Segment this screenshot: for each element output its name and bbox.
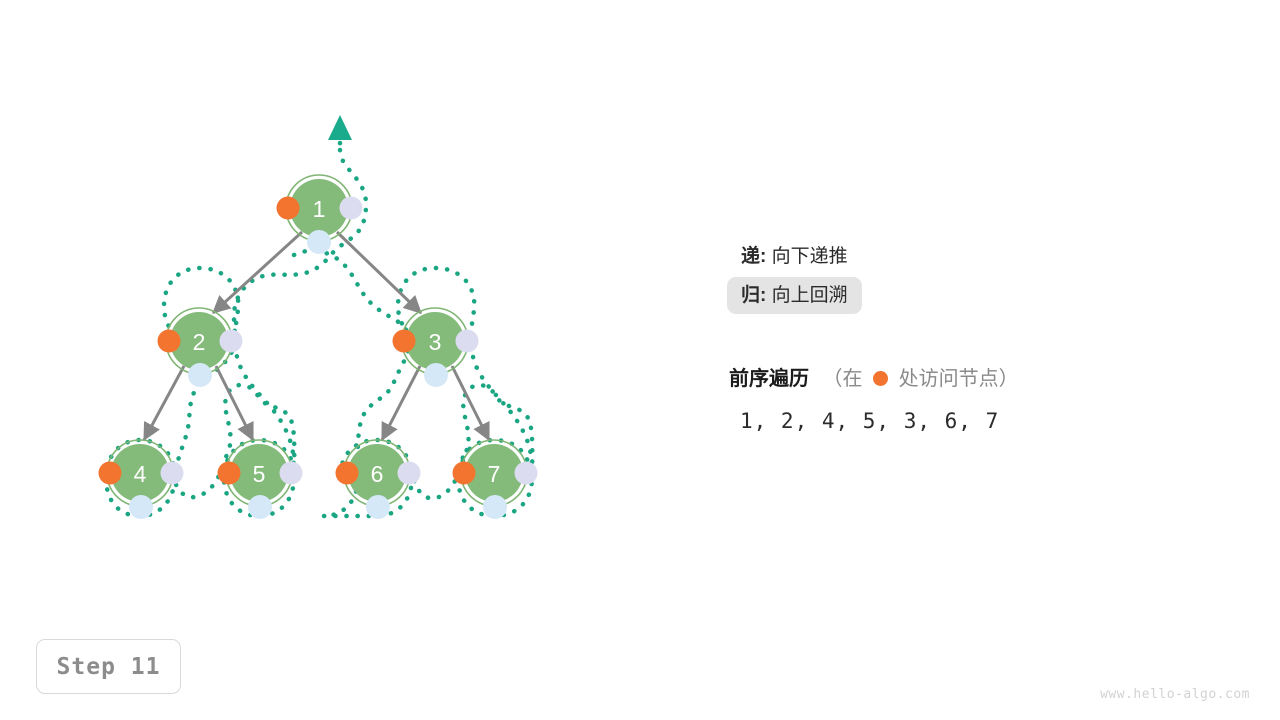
visit-dot-6 (336, 462, 359, 485)
tree-node-5[interactable]: 5 (218, 440, 303, 519)
legend-row-backtrack: 归: 向上回溯 (727, 277, 862, 314)
bottom-dot-3 (424, 363, 448, 387)
tree-node-2[interactable]: 2 (158, 308, 243, 387)
legend-row-recurse: 递: 向下递推 (727, 238, 862, 275)
bottom-dot-6 (366, 495, 390, 519)
tree-node-label: 2 (193, 329, 206, 355)
right-dot-4 (161, 462, 184, 485)
tree-node-label: 7 (488, 461, 501, 487)
recursion-pointer-icon (328, 115, 352, 140)
right-dot-6 (398, 462, 421, 485)
traversal-note-after: 处访问节点） (899, 368, 1019, 390)
visit-dot-1 (277, 197, 300, 220)
right-dot-3 (456, 330, 479, 353)
visit-dot-4 (99, 462, 122, 485)
visit-dot-icon (873, 371, 888, 386)
visit-dot-5 (218, 462, 241, 485)
legend-value: 向下递推 (772, 246, 848, 267)
right-dot-5 (280, 462, 303, 485)
traversal-note: （在 处访问节点） (822, 362, 1018, 391)
edge-1-3 (337, 232, 421, 313)
visualization-canvas: 1 2 3 (0, 0, 1280, 720)
traversal-note-before: （在 (822, 368, 862, 390)
tree-node-label: 4 (134, 461, 147, 487)
tree-node-label: 5 (253, 461, 266, 487)
legend-value: 向上回溯 (772, 285, 848, 306)
tree-node-4[interactable]: 4 (99, 440, 184, 519)
bottom-dot-2 (188, 363, 212, 387)
edge-1-2 (213, 232, 302, 313)
visit-dot-7 (453, 462, 476, 485)
bottom-dot-7 (483, 495, 507, 519)
step-badge: Step 11 (36, 639, 181, 694)
tree-nodes: 1 2 3 (99, 175, 538, 519)
visit-dot-2 (158, 330, 181, 353)
traversal-title: 前序遍历 (729, 362, 809, 391)
tree-node-label: 3 (429, 329, 442, 355)
right-dot-7 (515, 462, 538, 485)
legend-panel: 递: 向下递推 归: 向上回溯 (727, 238, 1207, 316)
bottom-dot-1 (307, 230, 331, 254)
binary-tree-diagram: 1 2 3 (0, 0, 1280, 720)
edge-2-4 (144, 366, 184, 440)
edge-3-6 (382, 366, 420, 440)
visit-dot-3 (393, 330, 416, 353)
tree-node-7[interactable]: 7 (453, 440, 538, 519)
bottom-dot-5 (248, 495, 272, 519)
right-dot-1 (340, 197, 363, 220)
traversal-heading: 前序遍历 （在 处访问节点） (729, 362, 1249, 391)
traversal-sequence: 1, 2, 4, 5, 3, 6, 7 (740, 409, 999, 433)
legend-key: 递: (741, 246, 766, 267)
tree-node-label: 1 (313, 196, 326, 222)
right-dot-2 (220, 330, 243, 353)
legend-key: 归: (741, 285, 766, 306)
tree-node-3[interactable]: 3 (393, 308, 479, 387)
watermark: www.hello-algo.com (1100, 687, 1250, 702)
bottom-dot-4 (129, 495, 153, 519)
tree-node-label: 6 (371, 461, 384, 487)
